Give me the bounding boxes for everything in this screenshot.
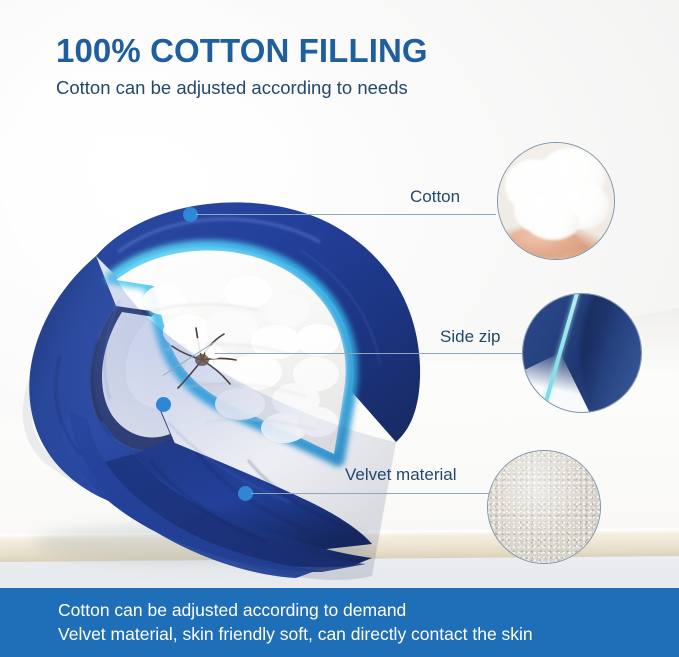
side-zip-closeup-inset [522,293,642,413]
product-illustration [0,160,430,580]
callout-label-cotton: Cotton [410,186,460,207]
callout-leader-side-zip [215,353,525,354]
bottom-banner: Cotton can be adjusted according to dema… [0,588,679,657]
fabric-fold [580,293,642,413]
callout-label-velvet-material: Velvet material [345,464,457,485]
callout-label-side-zip: Side zip [440,326,500,347]
callout-dot-side-zip[interactable] [156,397,171,412]
cotton-fill-in-hand-inset [497,142,615,260]
callout-leader-cotton [196,214,496,215]
banner-line-2: Velvet material, skin friendly soft, can… [58,623,533,645]
product-infographic-poster: 100% COTTON FILLING Cotton can be adjust… [0,0,679,657]
page-subtitle: Cotton can be adjusted according to need… [56,76,616,100]
callout-leader-velvet-material [251,493,496,494]
banner-line-1: Cotton can be adjusted according to dema… [58,599,406,621]
page-title: 100% COTTON FILLING [56,32,616,70]
heading-block: 100% COTTON FILLING Cotton can be adjust… [56,32,616,100]
velvet-texture-inset [487,450,601,564]
velvet-sheen [488,451,600,563]
